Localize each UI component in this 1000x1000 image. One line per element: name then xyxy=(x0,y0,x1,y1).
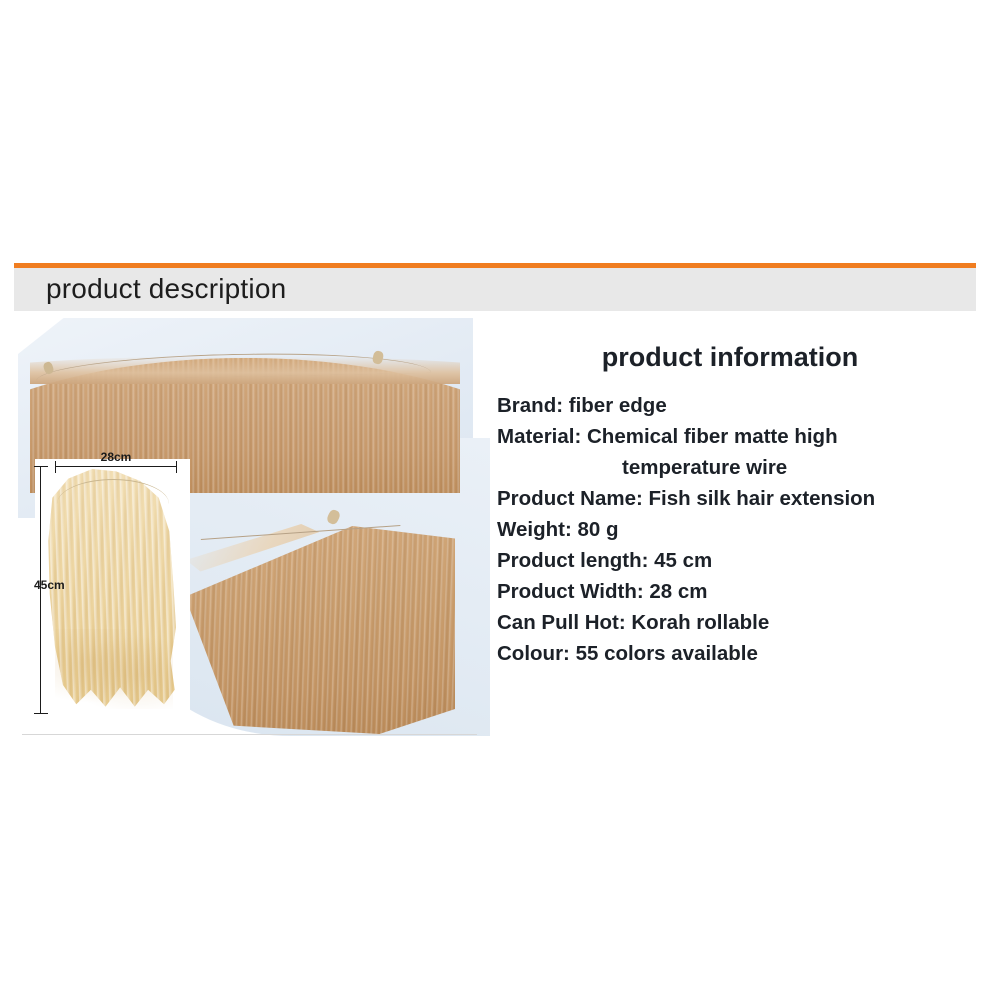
section-header: product description xyxy=(14,263,976,311)
collage-divider xyxy=(22,734,477,735)
width-dimension-arrow xyxy=(55,466,177,467)
spec-line-weight: Weight: 80 g xyxy=(497,514,1000,545)
section-header-title: product description xyxy=(46,273,286,305)
product-information-title: product information xyxy=(490,342,970,373)
height-dimension-label: 45cm xyxy=(34,578,65,592)
product-image-collage: 28cm 45cm xyxy=(0,318,490,736)
spec-line-product-width: Product Width: 28 cm xyxy=(497,576,1000,607)
height-dimension-annotation: 45cm xyxy=(30,466,52,714)
spec-line-product-name: Product Name: Fish silk hair extension xyxy=(497,483,1000,514)
inset-hairpiece-curls xyxy=(55,629,173,709)
product-description-content: 28cm 45cm product information Brand: fib… xyxy=(0,318,1000,738)
spec-line-can-pull-hot: Can Pull Hot: Korah rollable xyxy=(497,607,1000,638)
product-information-panel: product information Brand: fiber edge Ma… xyxy=(490,318,1000,736)
product-specification-list: Brand: fiber edge Material: Chemical fib… xyxy=(497,390,1000,669)
spec-line-colour: Colour: 55 colors available xyxy=(497,638,1000,669)
width-dimension-annotation: 28cm xyxy=(55,452,177,472)
width-dimension-label: 28cm xyxy=(55,450,177,464)
spec-line-brand: Brand: fiber edge xyxy=(497,390,1000,421)
spec-line-product-length: Product length: 45 cm xyxy=(497,545,1000,576)
spec-line-material-cont: temperature wire xyxy=(497,452,1000,483)
spec-line-material: Material: Chemical fiber matte high xyxy=(497,421,1000,452)
